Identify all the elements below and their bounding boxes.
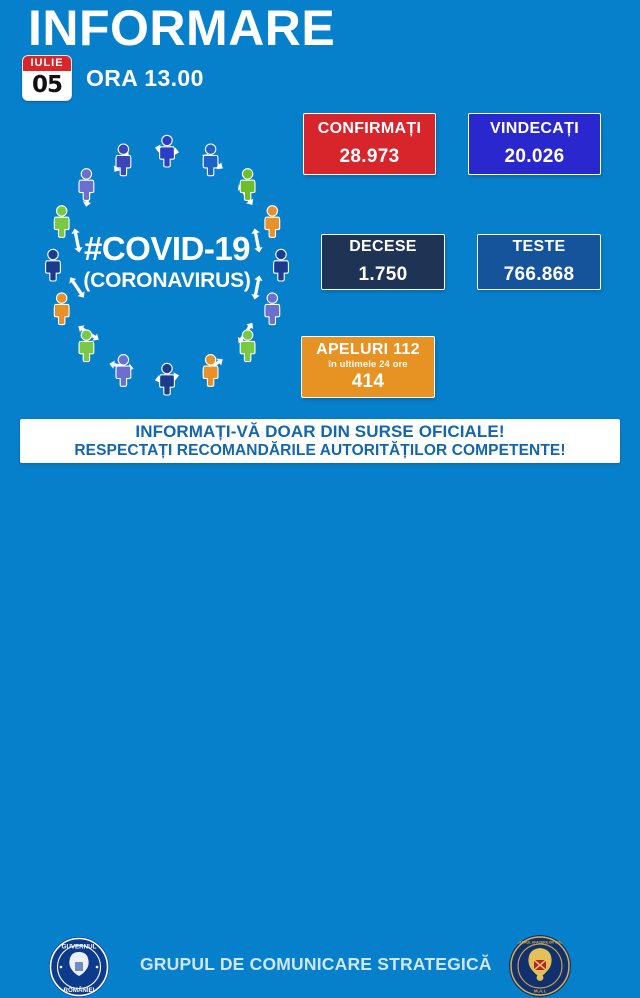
- person-figure-icon: [79, 330, 94, 362]
- stat-box-apeluri: APELURI 112 în ultimele 24 ore 414: [301, 336, 435, 398]
- infographic-canvas: INFORMARE IULIE 05 ORA 13.00: [0, 0, 640, 537]
- person-figure-icon: [203, 355, 218, 387]
- person-figure-icon: [274, 249, 289, 281]
- mai-seal-text-top: MINISTERUL AFACERILOR INTERNE: [510, 941, 570, 945]
- stat-label-vindecati: VINDECAȚI: [490, 120, 579, 138]
- footer: GUVERNUL ROMÂNIEI GRUPUL DE COMUNICARE S…: [0, 466, 640, 537]
- person-figure-icon: [240, 330, 255, 362]
- page-title: INFORMARE: [28, 2, 335, 55]
- stat-value-confirmati: 28.973: [340, 147, 400, 168]
- person-figure-icon: [265, 293, 280, 325]
- person-figure-icon: [203, 144, 218, 176]
- person-figure-icon: [116, 355, 131, 387]
- banner-line-1: INFORMAȚI-VĂ DOAR DIN SURSE OFICIALE!: [135, 422, 504, 442]
- people-circle-icon: #COVID-19 (CORONAVIRUS): [22, 128, 312, 413]
- calendar-month-label: IULIE: [23, 56, 71, 71]
- stat-box-confirmati: CONFIRMAȚI 28.973: [303, 113, 436, 175]
- stat-value-vindecati: 20.026: [505, 147, 565, 168]
- people-circle-svg: [22, 128, 312, 413]
- date-time-row: IULIE 05 ORA 13.00: [22, 55, 204, 101]
- person-figure-icon: [265, 206, 280, 238]
- mai-seal-icon: MINISTERUL AFACERILOR INTERNE M.A.I.: [508, 934, 572, 998]
- person-figure-icon: [46, 249, 61, 281]
- person-figure-icon: [160, 135, 175, 167]
- stat-box-teste: TESTE 766.868: [477, 234, 601, 290]
- person-figure-icon: [240, 169, 255, 201]
- stat-value-decese: 1.750: [358, 265, 407, 286]
- banner-line-2: RESPECTAȚI RECOMANDĂRILE AUTORITĂȚILOR C…: [74, 442, 565, 460]
- person-figure-icon: [54, 293, 69, 325]
- stat-box-decese: DECESE 1.750: [321, 234, 445, 290]
- person-figure-icon: [79, 169, 94, 201]
- stat-box-vindecati: VINDECAȚI 20.026: [468, 113, 601, 175]
- stat-value-apeluri: 414: [352, 372, 385, 393]
- organization-label: GRUPUL DE COMUNICARE STRATEGICĂ: [140, 954, 500, 975]
- gov-seal-text-bottom: ROMÂNIEI: [64, 987, 95, 994]
- stat-sublabel-apeluri: în ultimele 24 ore: [328, 360, 407, 370]
- calendar-day-label: 05: [23, 71, 71, 100]
- time-label: ORA 13.00: [86, 65, 204, 92]
- gov-seal-text-top: GUVERNUL: [62, 944, 97, 951]
- official-sources-banner: INFORMAȚI-VĂ DOAR DIN SURSE OFICIALE! RE…: [20, 419, 620, 463]
- person-figure-icon: [54, 206, 69, 238]
- stat-label-decese: DECESE: [349, 238, 417, 256]
- calendar-icon: IULIE 05: [22, 55, 72, 101]
- person-figure-icon: [160, 363, 175, 395]
- stat-label-confirmati: CONFIRMAȚI: [318, 120, 421, 138]
- government-seal-icon: GUVERNUL ROMÂNIEI: [48, 936, 110, 998]
- stat-value-teste: 766.868: [504, 265, 575, 286]
- mai-seal-text-bottom: M.A.I.: [534, 989, 546, 994]
- stat-label-apeluri: APELURI 112: [316, 341, 420, 359]
- stat-label-teste: TESTE: [512, 238, 565, 256]
